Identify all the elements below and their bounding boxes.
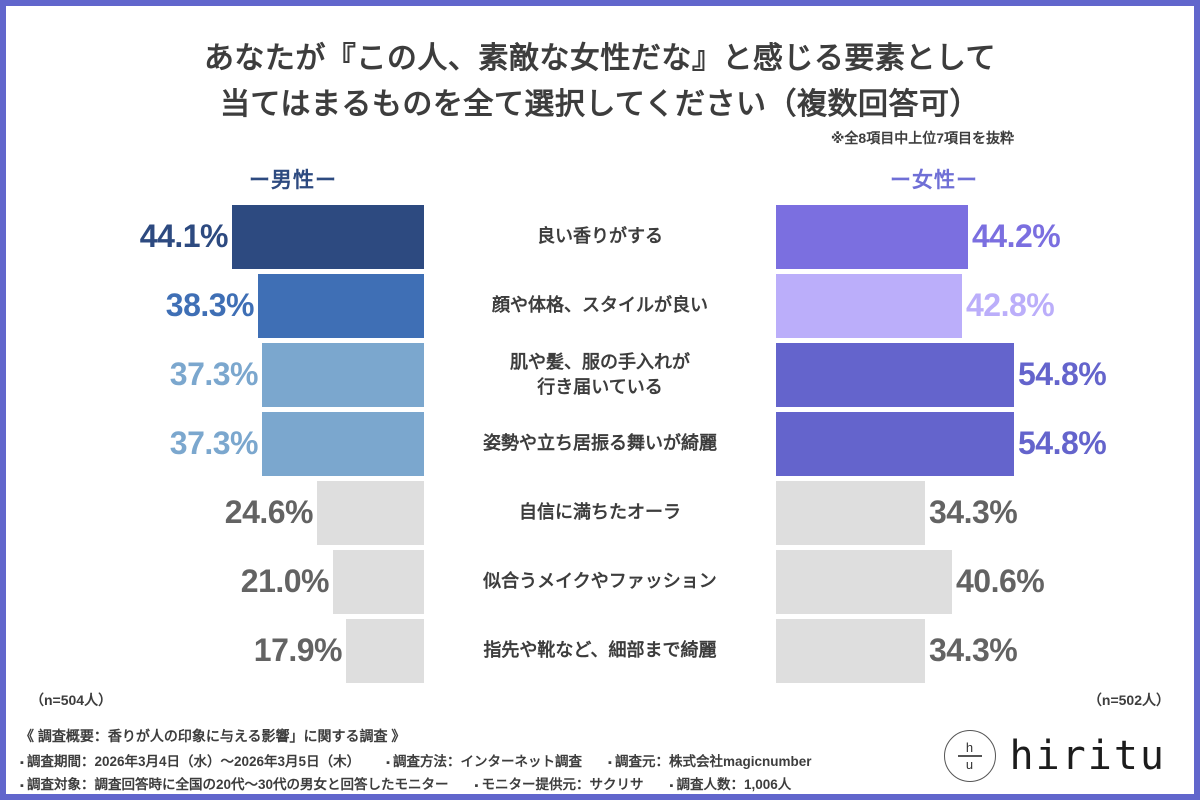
survey-detail-item: モニター提供元：サクリサ <box>475 777 644 792</box>
male-bar <box>333 550 424 614</box>
survey-detail-item: 調査方法：インターネット調査 <box>386 754 582 769</box>
sample-size-female: （n=502人） <box>1088 690 1170 710</box>
title-line-1: あなたが『この人、素敵な女性だな』と感じる要素として <box>6 36 1194 82</box>
female-bar-group: 54.8% <box>776 409 1194 478</box>
chart-row: 38.3%顔や体格、スタイルが良い42.8% <box>6 271 1194 340</box>
page-title: あなたが『この人、素敵な女性だな』と感じる要素として 当てはまるものを全て選択し… <box>6 36 1194 127</box>
infographic-page: あなたが『この人、素敵な女性だな』と感じる要素として 当てはまるものを全て選択し… <box>6 6 1194 794</box>
female-bar <box>776 274 962 338</box>
female-bar-group: 40.6% <box>776 547 1194 616</box>
chart-row: 37.3%肌や髪、服の手入れが行き届いている54.8% <box>6 340 1194 409</box>
survey-detail-row-1: 調査期間：2026年3月4日（水）〜2026年3月5日（木）調査方法：インターネ… <box>20 750 970 770</box>
male-bar-group: 17.9% <box>6 616 424 685</box>
male-value-label: 21.0% <box>241 563 329 600</box>
female-value-label: 42.8% <box>966 287 1054 324</box>
survey-detail-item: 調査元：株式会社magicnumber <box>608 754 812 769</box>
male-bar-group: 44.1% <box>6 202 424 271</box>
legend-female: ー女性ー <box>890 164 978 194</box>
female-bar-group: 42.8% <box>776 271 1194 340</box>
male-value-label: 38.3% <box>166 287 254 324</box>
female-bar <box>776 481 925 545</box>
female-value-label: 44.2% <box>972 218 1060 255</box>
chart-row: 44.1%良い香りがする44.2% <box>6 202 1194 271</box>
survey-detail-row-2: 調査対象：調査回答時に全国の20代〜30代の男女と回答したモニターモニター提供元… <box>20 773 970 793</box>
chart-row: 24.6%自信に満ちたオーラ34.3% <box>6 478 1194 547</box>
survey-heading: 《 調査概要：香りが人の印象に与える影響」に関する調査 》 <box>20 726 970 746</box>
female-bar-group: 54.8% <box>776 340 1194 409</box>
male-bar-group: 38.3% <box>6 271 424 340</box>
female-bar-group: 34.3% <box>776 616 1194 685</box>
diverging-bar-chart: 44.1%良い香りがする44.2%38.3%顔や体格、スタイルが良い42.8%3… <box>6 202 1194 685</box>
female-bar <box>776 619 925 683</box>
female-bar <box>776 343 1014 407</box>
male-bar-group: 37.3% <box>6 340 424 409</box>
male-bar <box>262 412 424 476</box>
male-bar-group: 37.3% <box>6 409 424 478</box>
title-note: ※全8項目中上位7項目を抜粋 <box>831 128 1014 148</box>
chart-row: 21.0%似合うメイクやファッション40.6% <box>6 547 1194 616</box>
male-value-label: 37.3% <box>170 425 258 462</box>
male-bar <box>258 274 424 338</box>
male-value-label: 44.1% <box>140 218 228 255</box>
female-bar <box>776 550 952 614</box>
female-bar-group: 44.2% <box>776 202 1194 271</box>
logo-wordmark: hiritu <box>1010 733 1167 779</box>
female-value-label: 34.3% <box>929 632 1017 669</box>
logo-denominator: u <box>966 758 973 771</box>
fraction-logo-icon: h u <box>944 730 996 782</box>
survey-detail-item: 調査期間：2026年3月4日（水）〜2026年3月5日（木） <box>20 754 360 769</box>
category-label: 似合うメイクやファッション <box>424 569 776 594</box>
sample-size-male: （n=504人） <box>30 690 112 710</box>
category-label: 姿勢や立ち居振る舞いが綺麗 <box>424 431 776 456</box>
category-label: 自信に満ちたオーラ <box>424 500 776 525</box>
male-bar <box>232 205 424 269</box>
category-label: 顔や体格、スタイルが良い <box>424 293 776 318</box>
female-value-label: 54.8% <box>1018 356 1106 393</box>
female-value-label: 54.8% <box>1018 425 1106 462</box>
survey-footer: 《 調査概要：香りが人の印象に与える影響」に関する調査 》 調査期間：2026年… <box>20 726 970 796</box>
female-bar <box>776 205 968 269</box>
category-label: 肌や髪、服の手入れが行き届いている <box>424 350 776 400</box>
chart-row: 17.9%指先や靴など、細部まで綺麗34.3% <box>6 616 1194 685</box>
female-bar <box>776 412 1014 476</box>
female-bar-group: 34.3% <box>776 478 1194 547</box>
male-bar <box>262 343 424 407</box>
male-value-label: 24.6% <box>225 494 313 531</box>
legend-male: ー男性ー <box>249 164 337 194</box>
male-bar-group: 24.6% <box>6 478 424 547</box>
male-value-label: 37.3% <box>170 356 258 393</box>
brand-logo: h u hiritu <box>944 730 1167 782</box>
male-bar-group: 21.0% <box>6 547 424 616</box>
male-value-label: 17.9% <box>254 632 342 669</box>
category-label: 指先や靴など、細部まで綺麗 <box>424 638 776 663</box>
female-value-label: 34.3% <box>929 494 1017 531</box>
survey-detail-item: 調査人数：1,006人 <box>669 777 791 792</box>
category-label: 良い香りがする <box>424 224 776 249</box>
male-bar <box>346 619 424 683</box>
male-bar <box>317 481 424 545</box>
title-line-2: 当てはまるものを全て選択してください（複数回答可） <box>6 82 1194 128</box>
logo-numerator: h <box>966 741 973 754</box>
chart-row: 37.3%姿勢や立ち居振る舞いが綺麗54.8% <box>6 409 1194 478</box>
survey-detail-item: 調査対象：調査回答時に全国の20代〜30代の男女と回答したモニター <box>20 777 449 792</box>
female-value-label: 40.6% <box>956 563 1044 600</box>
